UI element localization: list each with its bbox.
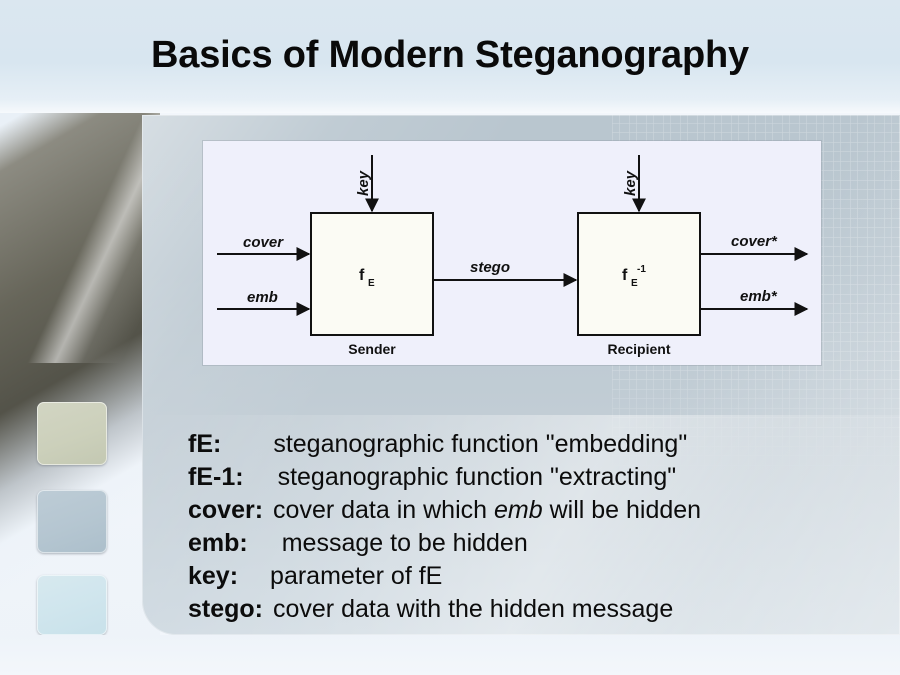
legend-row-fe-1: fE-1: steganographic function "extractin… xyxy=(188,461,888,494)
legend-desc-cover-before: cover data in which xyxy=(273,494,494,527)
sidebar-square-blue-grey xyxy=(37,490,107,553)
legend-term-fe: fE: xyxy=(188,428,221,461)
legend-row-cover: cover: cover data in which emb will be h… xyxy=(188,494,888,527)
legend-row-key: key: parameter of fE xyxy=(188,560,888,593)
bottom-strip xyxy=(0,635,900,675)
legend-desc-key: parameter of fE xyxy=(270,560,442,593)
legend-desc-cover-after: will be hidden xyxy=(543,494,701,527)
cover-star-label: cover* xyxy=(731,233,778,250)
recipient-function-label: f xyxy=(622,267,628,284)
key-label-sender: key xyxy=(355,170,372,196)
slide-root: Basics of Modern Steganography f E Sende… xyxy=(0,0,900,675)
sidebar-square-olive xyxy=(37,402,107,465)
recipient-function-exponent: -1 xyxy=(637,264,646,275)
emb-star-label: emb* xyxy=(740,288,778,305)
legend-desc-stego: cover data with the hidden message xyxy=(273,593,673,626)
legend-desc-cover-emphasis: emb xyxy=(494,494,543,527)
sidebar-square-light-blue xyxy=(37,575,107,635)
legend-term-cover: cover: xyxy=(188,494,263,527)
page-title: Basics of Modern Steganography xyxy=(0,34,900,77)
legend-term-fe-1: fE-1: xyxy=(188,461,244,494)
legend-list: fE: steganographic function "embedding" … xyxy=(188,428,888,626)
recipient-caption: Recipient xyxy=(607,341,670,357)
diagram-svg: f E Sender f E -1 Recipient key key cove… xyxy=(203,141,821,365)
sender-caption: Sender xyxy=(348,341,396,357)
legend-row-emb: emb: message to be hidden xyxy=(188,527,888,560)
legend-term-key: key: xyxy=(188,560,238,593)
stego-label: stego xyxy=(470,259,510,276)
sender-function-label: f xyxy=(359,267,365,284)
sender-function-subscript: E xyxy=(368,278,375,289)
steganography-diagram: f E Sender f E -1 Recipient key key cove… xyxy=(203,141,821,365)
emb-label: emb xyxy=(247,289,278,306)
background-sheen-left xyxy=(0,113,160,363)
legend-desc-emb: message to be hidden xyxy=(282,527,528,560)
legend-desc-fe: steganographic function "embedding" xyxy=(273,428,687,461)
legend-row-fe: fE: steganographic function "embedding" xyxy=(188,428,888,461)
key-label-recipient: key xyxy=(622,170,639,196)
title-band: Basics of Modern Steganography xyxy=(0,0,900,113)
legend-desc-fe-1: steganographic function "extracting" xyxy=(278,461,677,494)
legend-term-emb: emb: xyxy=(188,527,248,560)
legend-row-stego: stego: cover data with the hidden messag… xyxy=(188,593,888,626)
cover-label: cover xyxy=(243,234,284,251)
legend-term-stego: stego: xyxy=(188,593,263,626)
recipient-function-subscript: E xyxy=(631,278,638,289)
sender-box xyxy=(311,213,433,335)
